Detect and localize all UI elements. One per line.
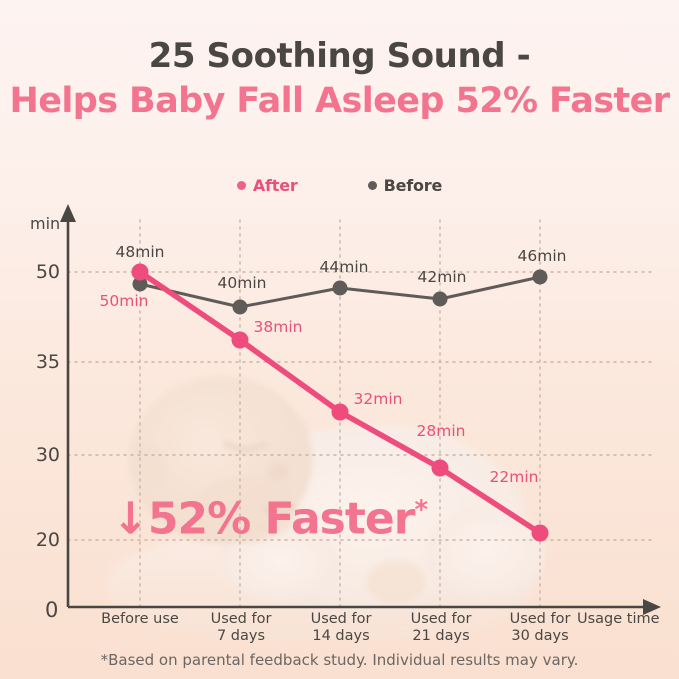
legend-label-after: After bbox=[253, 176, 298, 195]
callout-text: 52% Faster bbox=[148, 494, 415, 545]
x-label-1-line-1: Used for bbox=[211, 611, 272, 628]
chart-plot-area: min 50 35 30 20 0 48min 40min 44min 42mi… bbox=[0, 200, 679, 620]
x-label-4-line-1: Used for bbox=[510, 611, 571, 628]
x-label-4: Used for 30 days bbox=[510, 611, 571, 645]
value-label-after-3: 28min bbox=[417, 422, 466, 440]
y-tick-35-label: 35 bbox=[26, 351, 60, 373]
data-point-after-0 bbox=[132, 264, 149, 281]
data-point-after-1 bbox=[232, 332, 249, 349]
x-label-2: Used for 14 days bbox=[311, 611, 372, 645]
data-point-after-2 bbox=[332, 404, 349, 421]
x-label-1-line-2: 7 days bbox=[211, 628, 272, 645]
value-label-after-4: 22min bbox=[490, 468, 539, 486]
value-label-before-2: 44min bbox=[320, 258, 369, 276]
data-point-before-2 bbox=[333, 281, 348, 296]
value-label-before-0: 48min bbox=[116, 243, 165, 261]
footnote-disclaimer: *Based on parental feedback study. Indiv… bbox=[0, 651, 679, 669]
data-point-after-4 bbox=[532, 525, 549, 542]
legend-item-before: Before bbox=[368, 176, 443, 195]
x-label-1: Used for 7 days bbox=[211, 611, 272, 645]
callout-asterisk: * bbox=[414, 495, 427, 525]
chart-legend: After Before bbox=[0, 176, 679, 195]
value-label-before-4: 46min bbox=[518, 247, 567, 265]
data-point-before-1 bbox=[233, 300, 248, 315]
x-label-2-line-2: 14 days bbox=[311, 628, 372, 645]
value-label-after-1: 38min bbox=[254, 318, 303, 336]
legend-dot-before-icon bbox=[368, 181, 377, 190]
percent-faster-callout: ↓52% Faster* bbox=[112, 497, 427, 542]
page-title: 25 Soothing Sound - Helps Baby Fall Asle… bbox=[0, 34, 679, 124]
x-label-4-line-2: 30 days bbox=[510, 628, 571, 645]
y-tick-50-label: 50 bbox=[26, 261, 60, 283]
x-label-0: Before use bbox=[101, 611, 179, 628]
data-point-before-4 bbox=[533, 270, 548, 285]
x-label-0-line-1: Before use bbox=[101, 611, 179, 628]
x-label-3-line-2: 21 days bbox=[411, 628, 472, 645]
value-label-after-0: 50min bbox=[100, 292, 149, 310]
data-point-before-3 bbox=[433, 292, 448, 307]
y-tick-30-label: 30 bbox=[26, 444, 60, 466]
legend-dot-after-icon bbox=[237, 181, 246, 190]
value-label-before-3: 42min bbox=[418, 268, 467, 286]
y-tick-20-label: 20 bbox=[26, 529, 60, 551]
down-arrow-icon: ↓ bbox=[112, 494, 148, 545]
x-label-3-line-1: Used for bbox=[411, 611, 472, 628]
x-label-3: Used for 21 days bbox=[411, 611, 472, 645]
x-axis-title: Usage time bbox=[577, 611, 660, 627]
title-line-2: Helps Baby Fall Asleep 52% Faster bbox=[0, 78, 679, 124]
value-label-before-1: 40min bbox=[218, 274, 267, 292]
value-label-after-2: 32min bbox=[354, 390, 403, 408]
title-line-1: 25 Soothing Sound - bbox=[0, 34, 679, 78]
legend-item-after: After bbox=[237, 176, 298, 195]
legend-label-before: Before bbox=[384, 176, 443, 195]
x-label-2-line-1: Used for bbox=[311, 611, 372, 628]
y-axis bbox=[60, 204, 76, 607]
data-point-after-3 bbox=[432, 460, 449, 477]
y-axis-unit-label: min bbox=[30, 214, 60, 233]
